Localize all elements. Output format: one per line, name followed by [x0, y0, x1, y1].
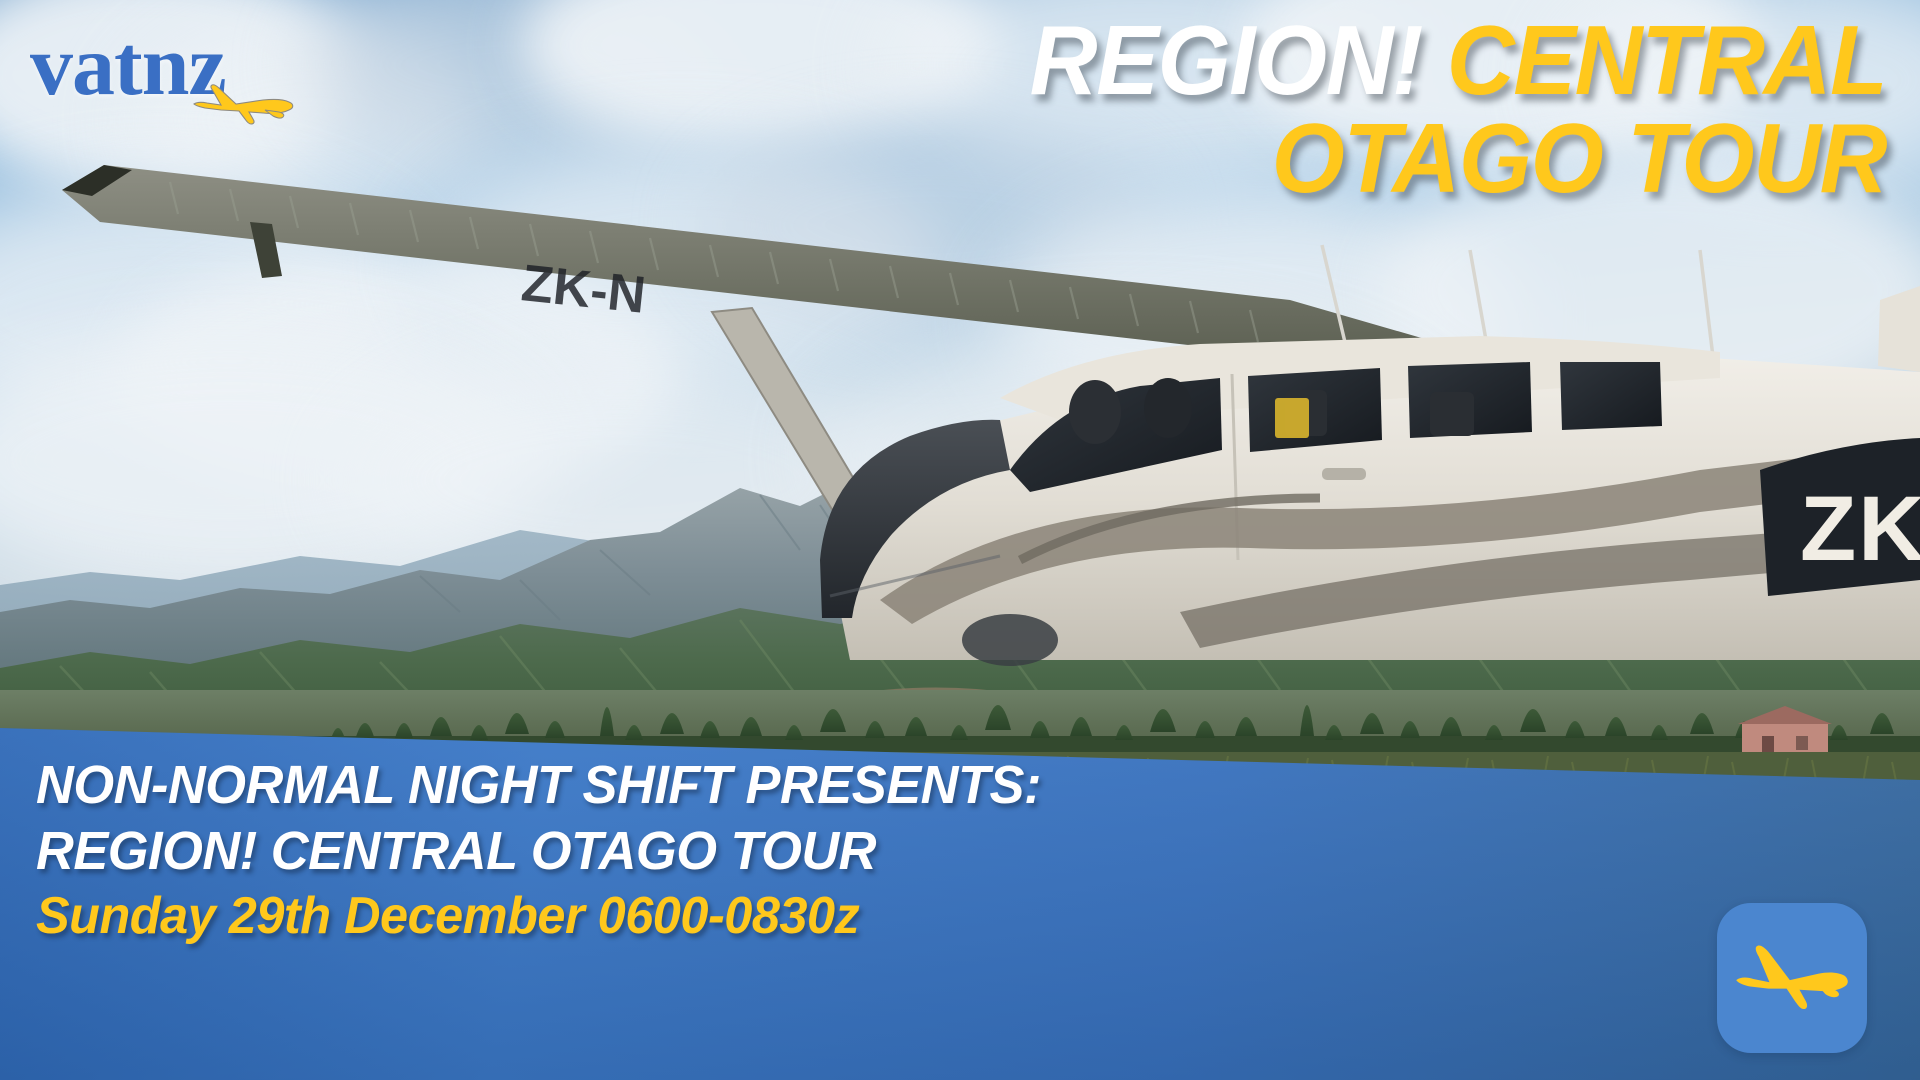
- airplane-icon: [191, 78, 301, 130]
- pilot-silhouette: [1069, 380, 1121, 444]
- banner-text-block: NON-NORMAL NIGHT SHIFT PRESENTS: REGION!…: [36, 758, 1072, 954]
- headline-line-1: REGION! CENTRAL: [1030, 14, 1886, 106]
- banner-line-datetime: Sunday 29th December 0600-0830z: [36, 890, 1041, 942]
- svg-text:ZK: ZK: [1800, 478, 1920, 580]
- headline-region: REGION!: [1030, 5, 1422, 115]
- event-poster: ZK-N: [0, 0, 1920, 1080]
- headline-line-2: OTAGO TOUR: [1030, 112, 1886, 204]
- pilot-silhouette: [1144, 378, 1192, 438]
- airplane-badge[interactable]: [1717, 903, 1867, 1053]
- rear-window: [1560, 362, 1662, 430]
- banner-line-event-name: REGION! CENTRAL OTAGO TOUR: [36, 824, 1041, 878]
- banner-line-presents: NON-NORMAL NIGHT SHIFT PRESENTS:: [36, 758, 1041, 812]
- svg-text:ZK-N: ZK-N: [519, 254, 649, 325]
- headline-central: CENTRAL: [1447, 5, 1886, 115]
- page-title: REGION! CENTRAL OTAGO TOUR: [994, 14, 1886, 204]
- headline-otago-tour: OTAGO TOUR: [1271, 103, 1886, 213]
- aircraft-fuselage: [830, 336, 1920, 660]
- landing-gear: [962, 614, 1058, 666]
- vatnz-logo[interactable]: vatnz: [28, 22, 308, 132]
- airplane-icon: [1733, 929, 1851, 1029]
- tail-fin: [1878, 286, 1920, 372]
